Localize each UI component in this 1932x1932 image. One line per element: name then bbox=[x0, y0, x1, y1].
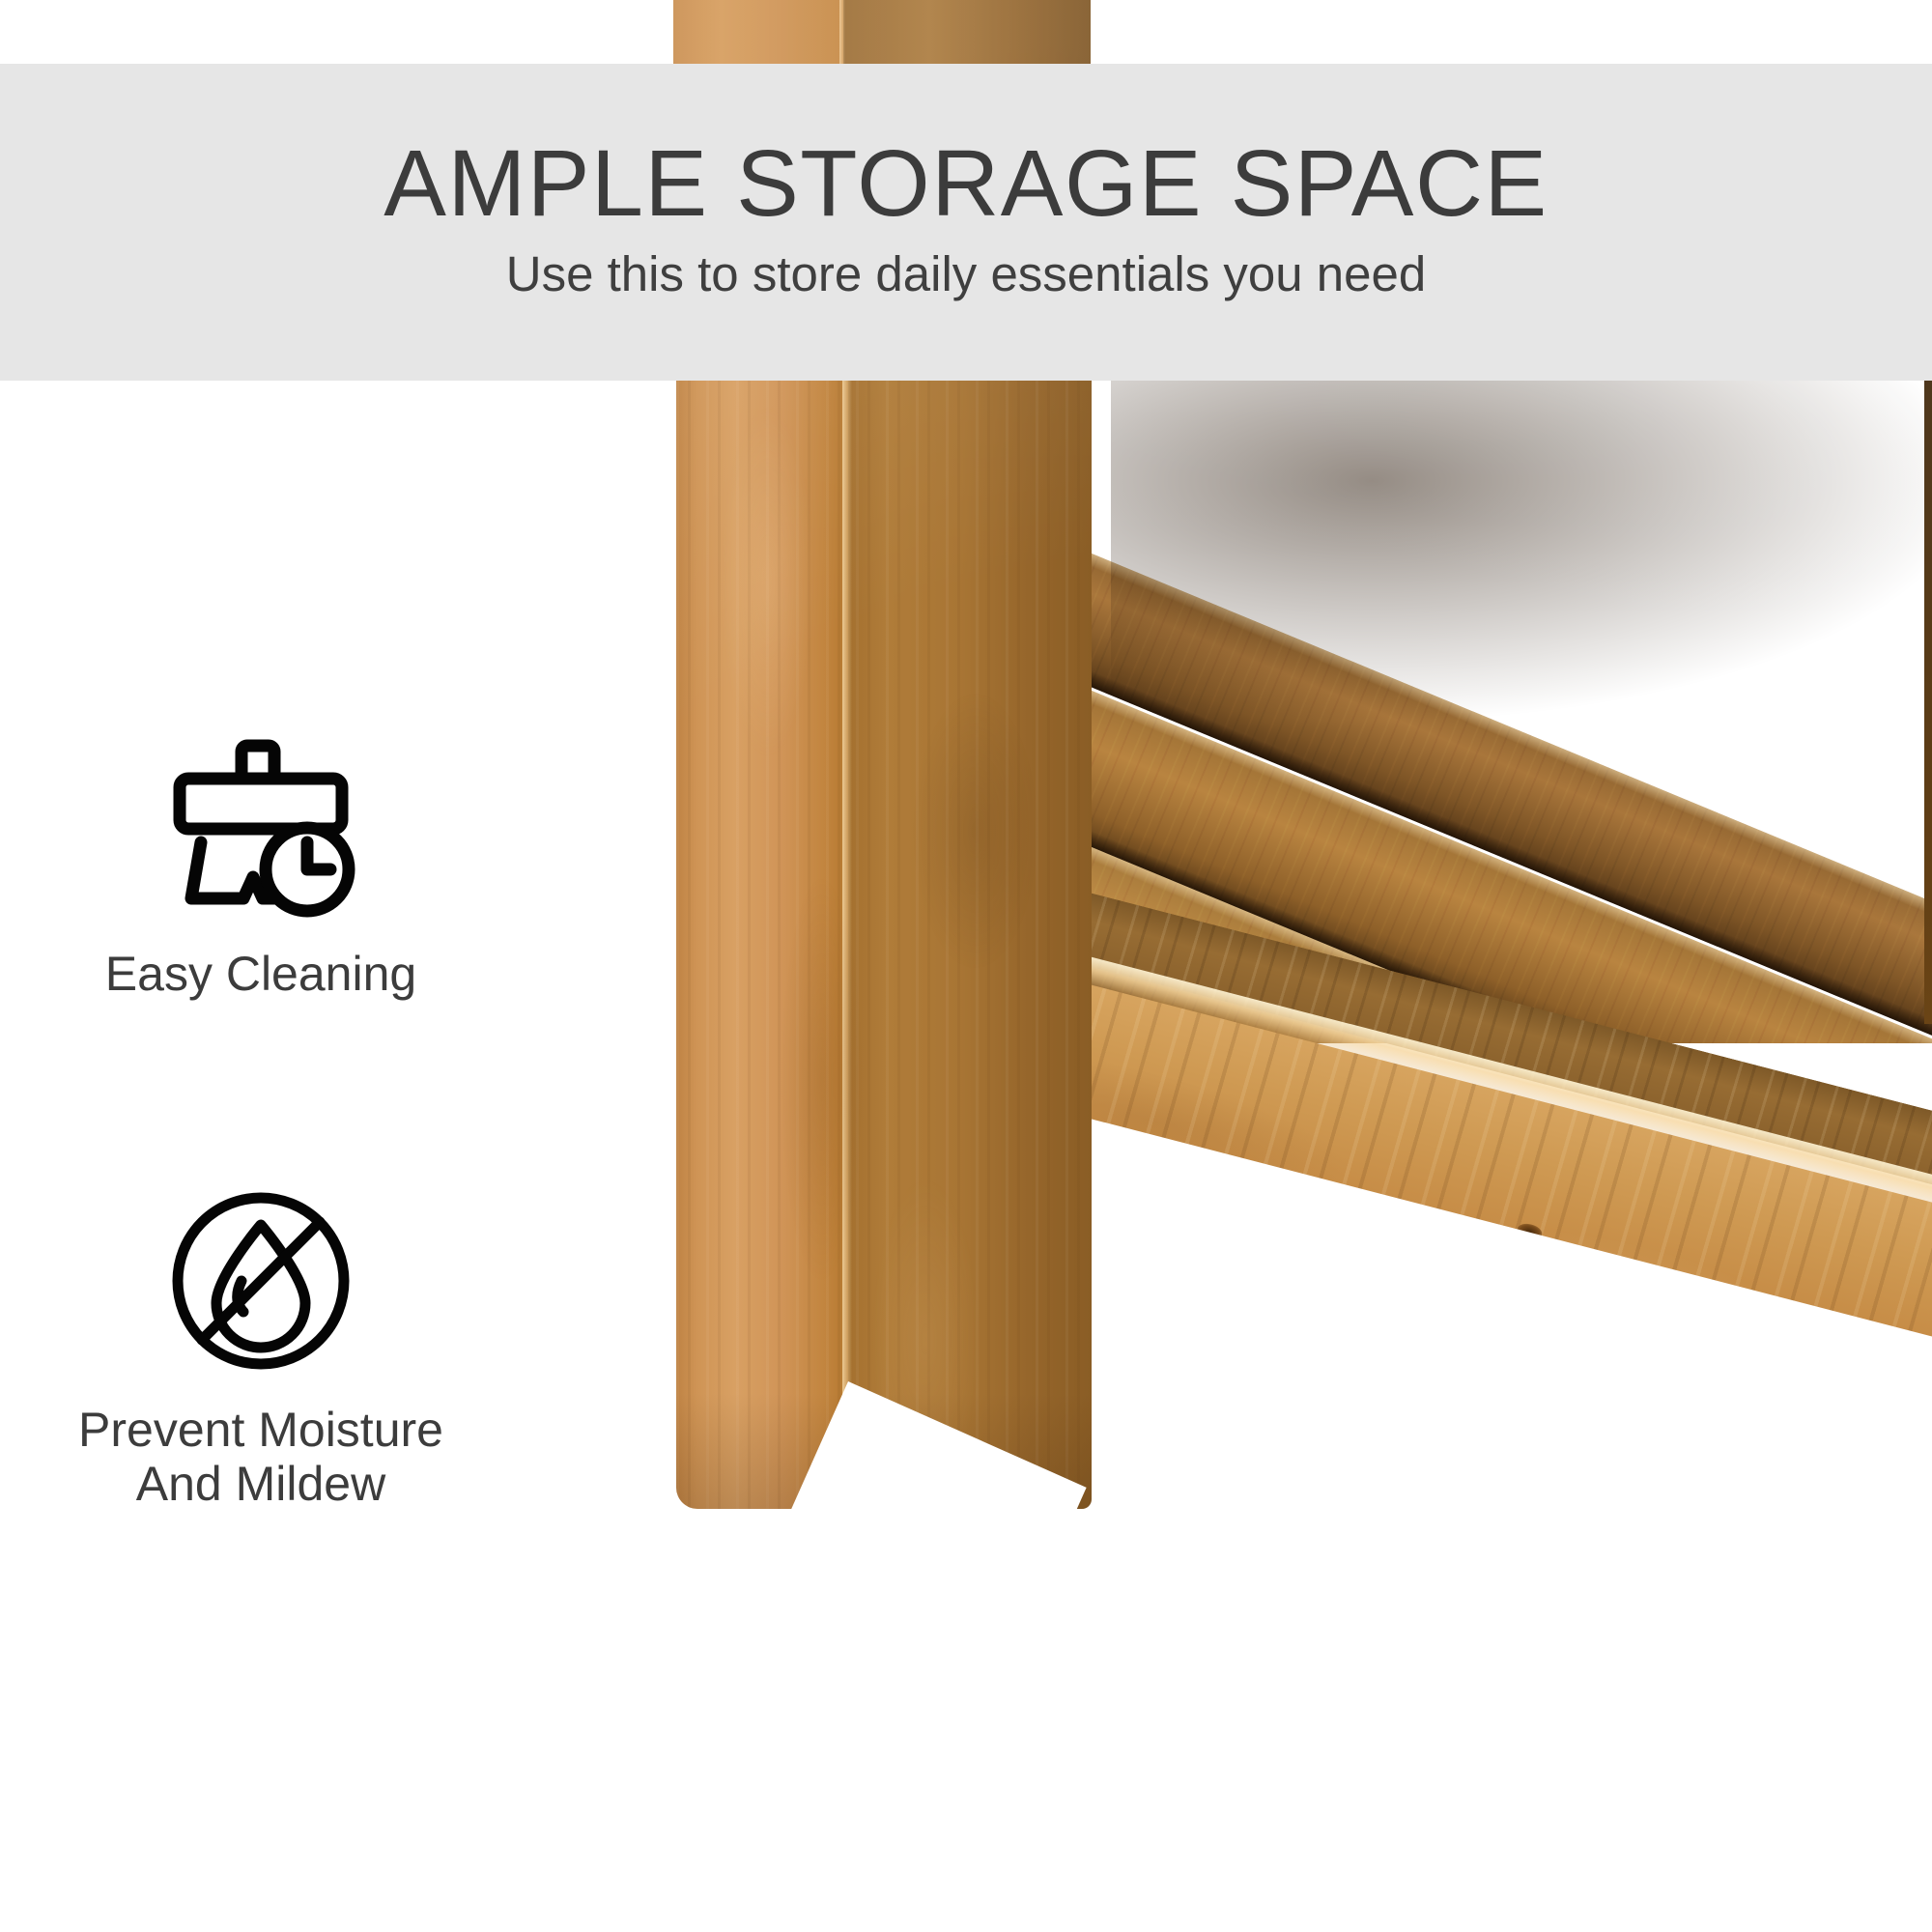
headline-banner: AMPLE STORAGE SPACE Use this to store da… bbox=[0, 64, 1932, 381]
feature-item-prevent-moisture: Prevent Moisture And Mildew bbox=[10, 1188, 512, 1511]
upper-leg-corner-highlight bbox=[839, 0, 845, 71]
background-board-edge bbox=[1924, 290, 1932, 1024]
leg-tonal-variation bbox=[676, 379, 1092, 1509]
feature-item-easy-cleaning: Easy Cleaning bbox=[10, 734, 512, 1001]
upper-leg-front-face bbox=[673, 0, 843, 71]
shelf-upper-leg-stub bbox=[673, 0, 1091, 71]
feature-label: Easy Cleaning bbox=[105, 947, 416, 1001]
cleaning-brush-clock-icon bbox=[164, 734, 357, 918]
feature-label: Prevent Moisture And Mildew bbox=[78, 1403, 443, 1511]
page-title: AMPLE STORAGE SPACE bbox=[384, 136, 1548, 232]
no-water-droplet-icon bbox=[168, 1188, 354, 1374]
shelf-vertical-leg bbox=[676, 379, 1092, 1509]
upper-leg-side-face bbox=[843, 0, 1091, 71]
product-feature-banner: AMPLE STORAGE SPACE Use this to store da… bbox=[0, 0, 1932, 1932]
page-subtitle: Use this to store daily essentials you n… bbox=[506, 247, 1427, 301]
